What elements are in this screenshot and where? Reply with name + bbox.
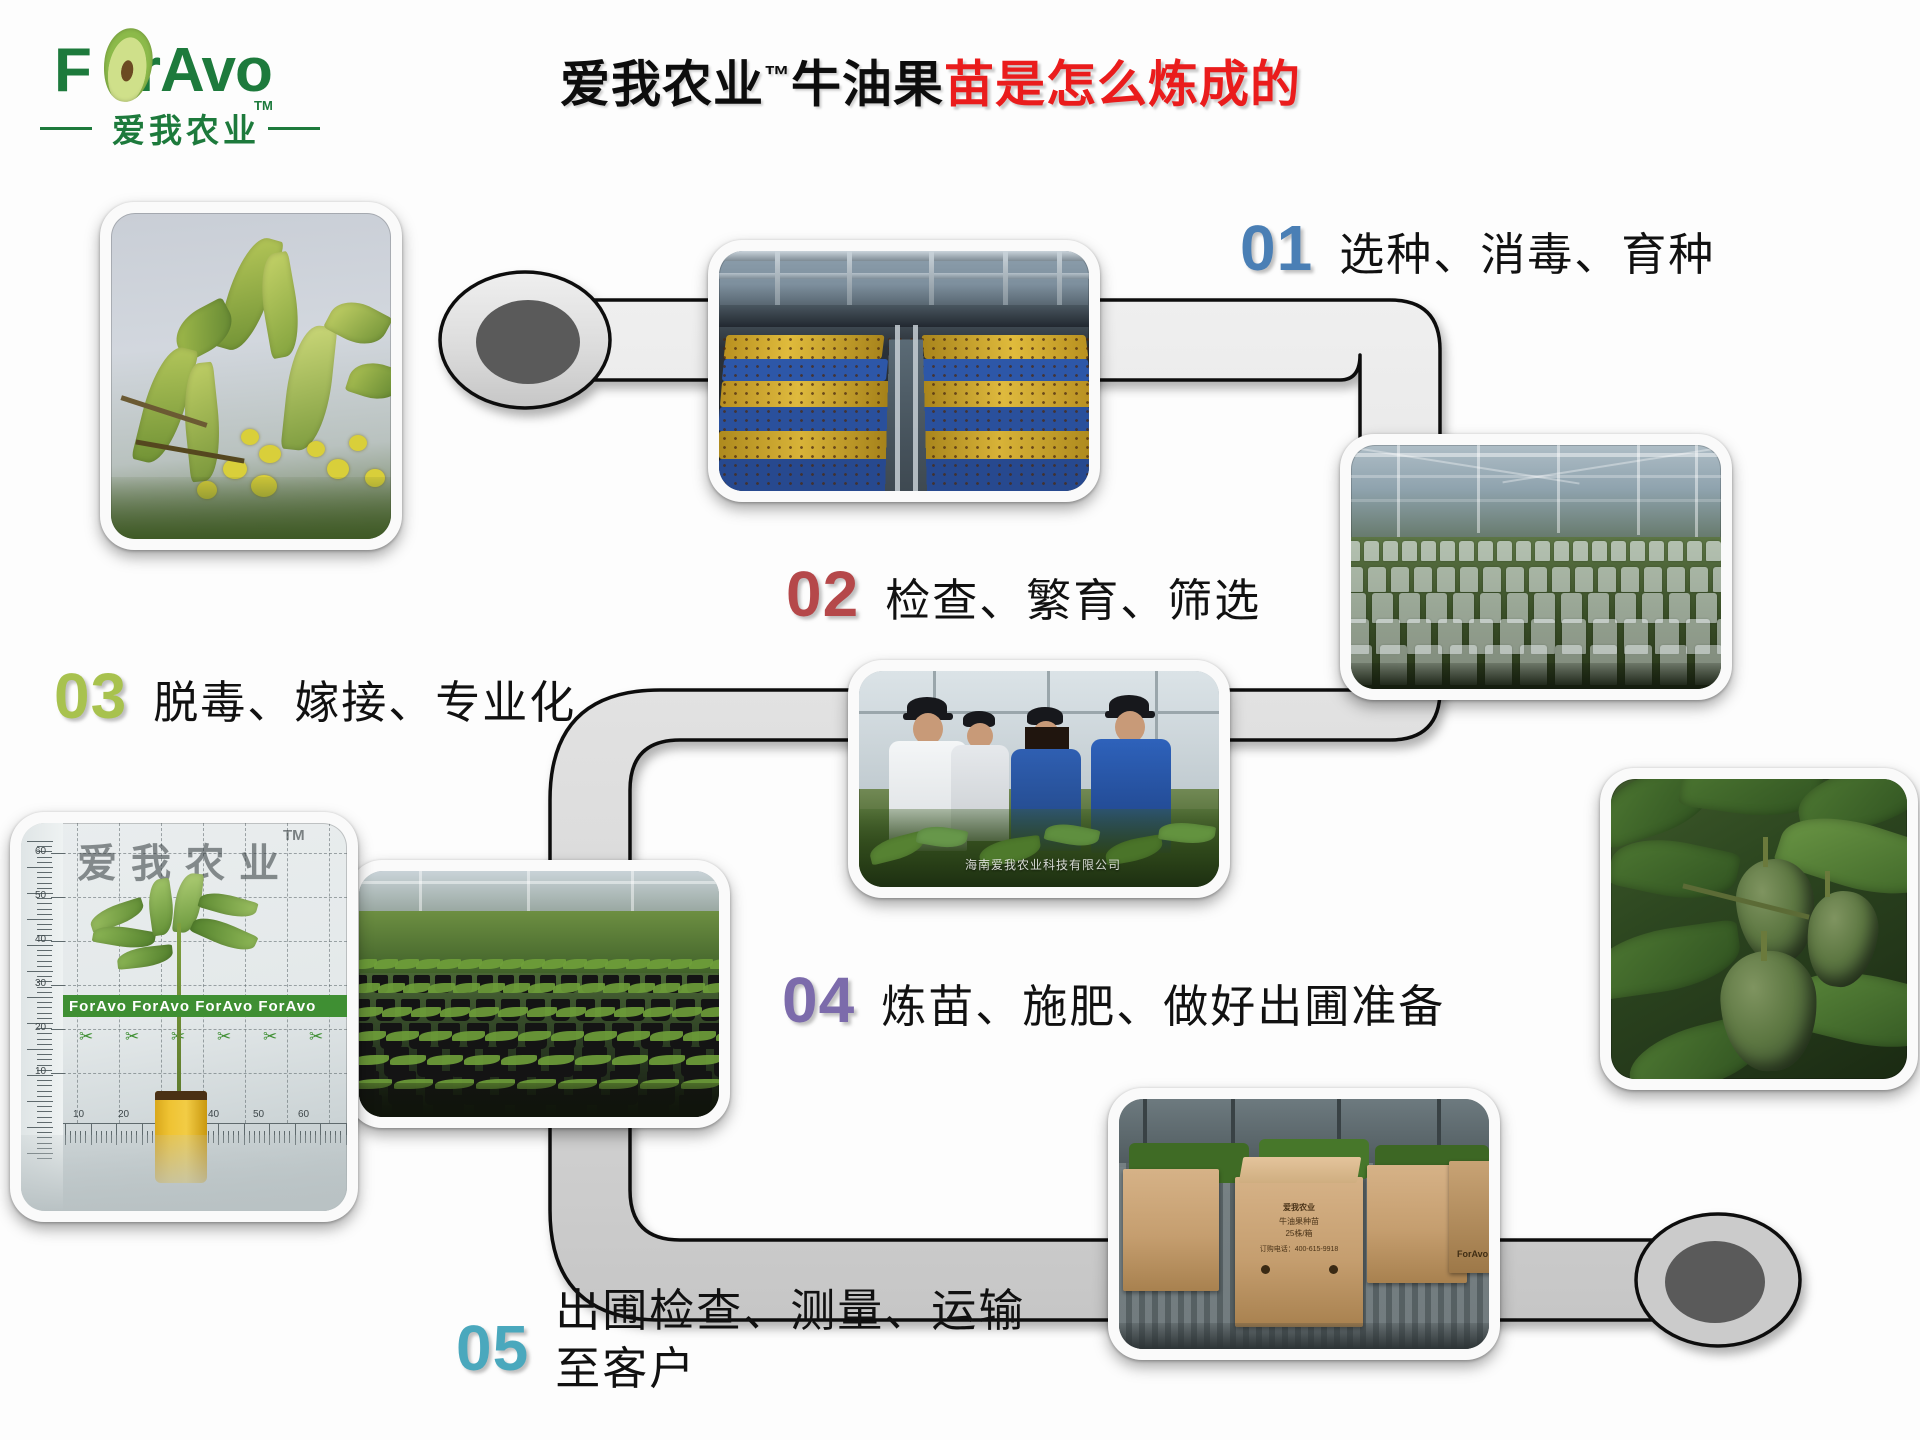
avocado-fruit-on-tree-photo[interactable]: [1600, 768, 1918, 1090]
box-phone-text: 订购电话：400-615-9918: [1235, 1245, 1363, 1255]
foravo-brand-band: ForAvo ForAvo ForAvo ForAvo: [63, 995, 347, 1017]
grafting-bags-greenhouse-photo[interactable]: [1340, 434, 1732, 700]
foravo-brand-band-text: ForAvo ForAvo ForAvo ForAvo: [63, 998, 316, 1015]
step-05[interactable]: 05 出圃检查、测量、运输 至客户: [456, 1282, 1025, 1398]
step-01[interactable]: 01 选种、消毒、育种: [1240, 216, 1715, 283]
box-product-text: 牛油果种苗: [1235, 1217, 1363, 1227]
step-03-label: 脱毒、嫁接、专业化: [153, 675, 576, 731]
box-count-text: 25株/箱: [1235, 1229, 1363, 1239]
seed-trays-greenhouse-photo[interactable]: [708, 240, 1100, 502]
infographic-canvas: F rAvo 爱我农业 TM 爱我农业™牛油果苗是怎么炼成的: [0, 0, 1920, 1440]
step-01-label: 选种、消毒、育种: [1339, 227, 1715, 283]
avocado-flowering-branch-photo[interactable]: [100, 202, 402, 550]
step-04-label: 炼苗、施肥、做好出圃准备: [881, 979, 1445, 1035]
nursery-pots-rows-photo[interactable]: [348, 860, 730, 1128]
flow-end-cap-dot: [1665, 1241, 1765, 1323]
step-04[interactable]: 04 炼苗、施肥、做好出圃准备: [782, 968, 1445, 1035]
box-brand-text: 爱我农业: [1235, 1203, 1363, 1213]
measurement-ruler-seedling-photo[interactable]: 605040302010102030405060✂✂✂✂✂✂ 爱我农业 TM F…: [10, 812, 358, 1222]
step-05-label: 出圃检查、测量、运输 至客户: [555, 1282, 1025, 1398]
step-02[interactable]: 02 检查、繁育、筛选: [786, 562, 1261, 629]
shipping-box: 爱我农业 牛油果种苗 25株/箱 订购电话：400-615-9918: [1235, 1177, 1363, 1327]
staff-inspecting-seedlings-photo[interactable]: 海南爱我农业科技有限公司: [848, 660, 1230, 898]
box-side-brand-text: ForAvo: [1457, 1249, 1488, 1259]
flow-start-cap-dot: [476, 300, 580, 384]
step-02-label: 检查、繁育、筛选: [885, 573, 1261, 629]
packing-boxes-shipping-photo[interactable]: 爱我农业 牛油果种苗 25株/箱 订购电话：400-615-9918 ForAv…: [1108, 1088, 1500, 1360]
step-02-number: 02: [786, 562, 859, 626]
step-04-number: 04: [782, 968, 855, 1032]
step-03[interactable]: 03 脱毒、嫁接、专业化: [54, 664, 576, 731]
ruler-photo-watermark-tm: TM: [283, 827, 305, 844]
step-01-number: 01: [1240, 216, 1313, 280]
photo-watermark: 海南爱我农业科技有限公司: [965, 856, 1121, 873]
step-05-number: 05: [456, 1316, 529, 1380]
step-03-number: 03: [54, 664, 127, 728]
